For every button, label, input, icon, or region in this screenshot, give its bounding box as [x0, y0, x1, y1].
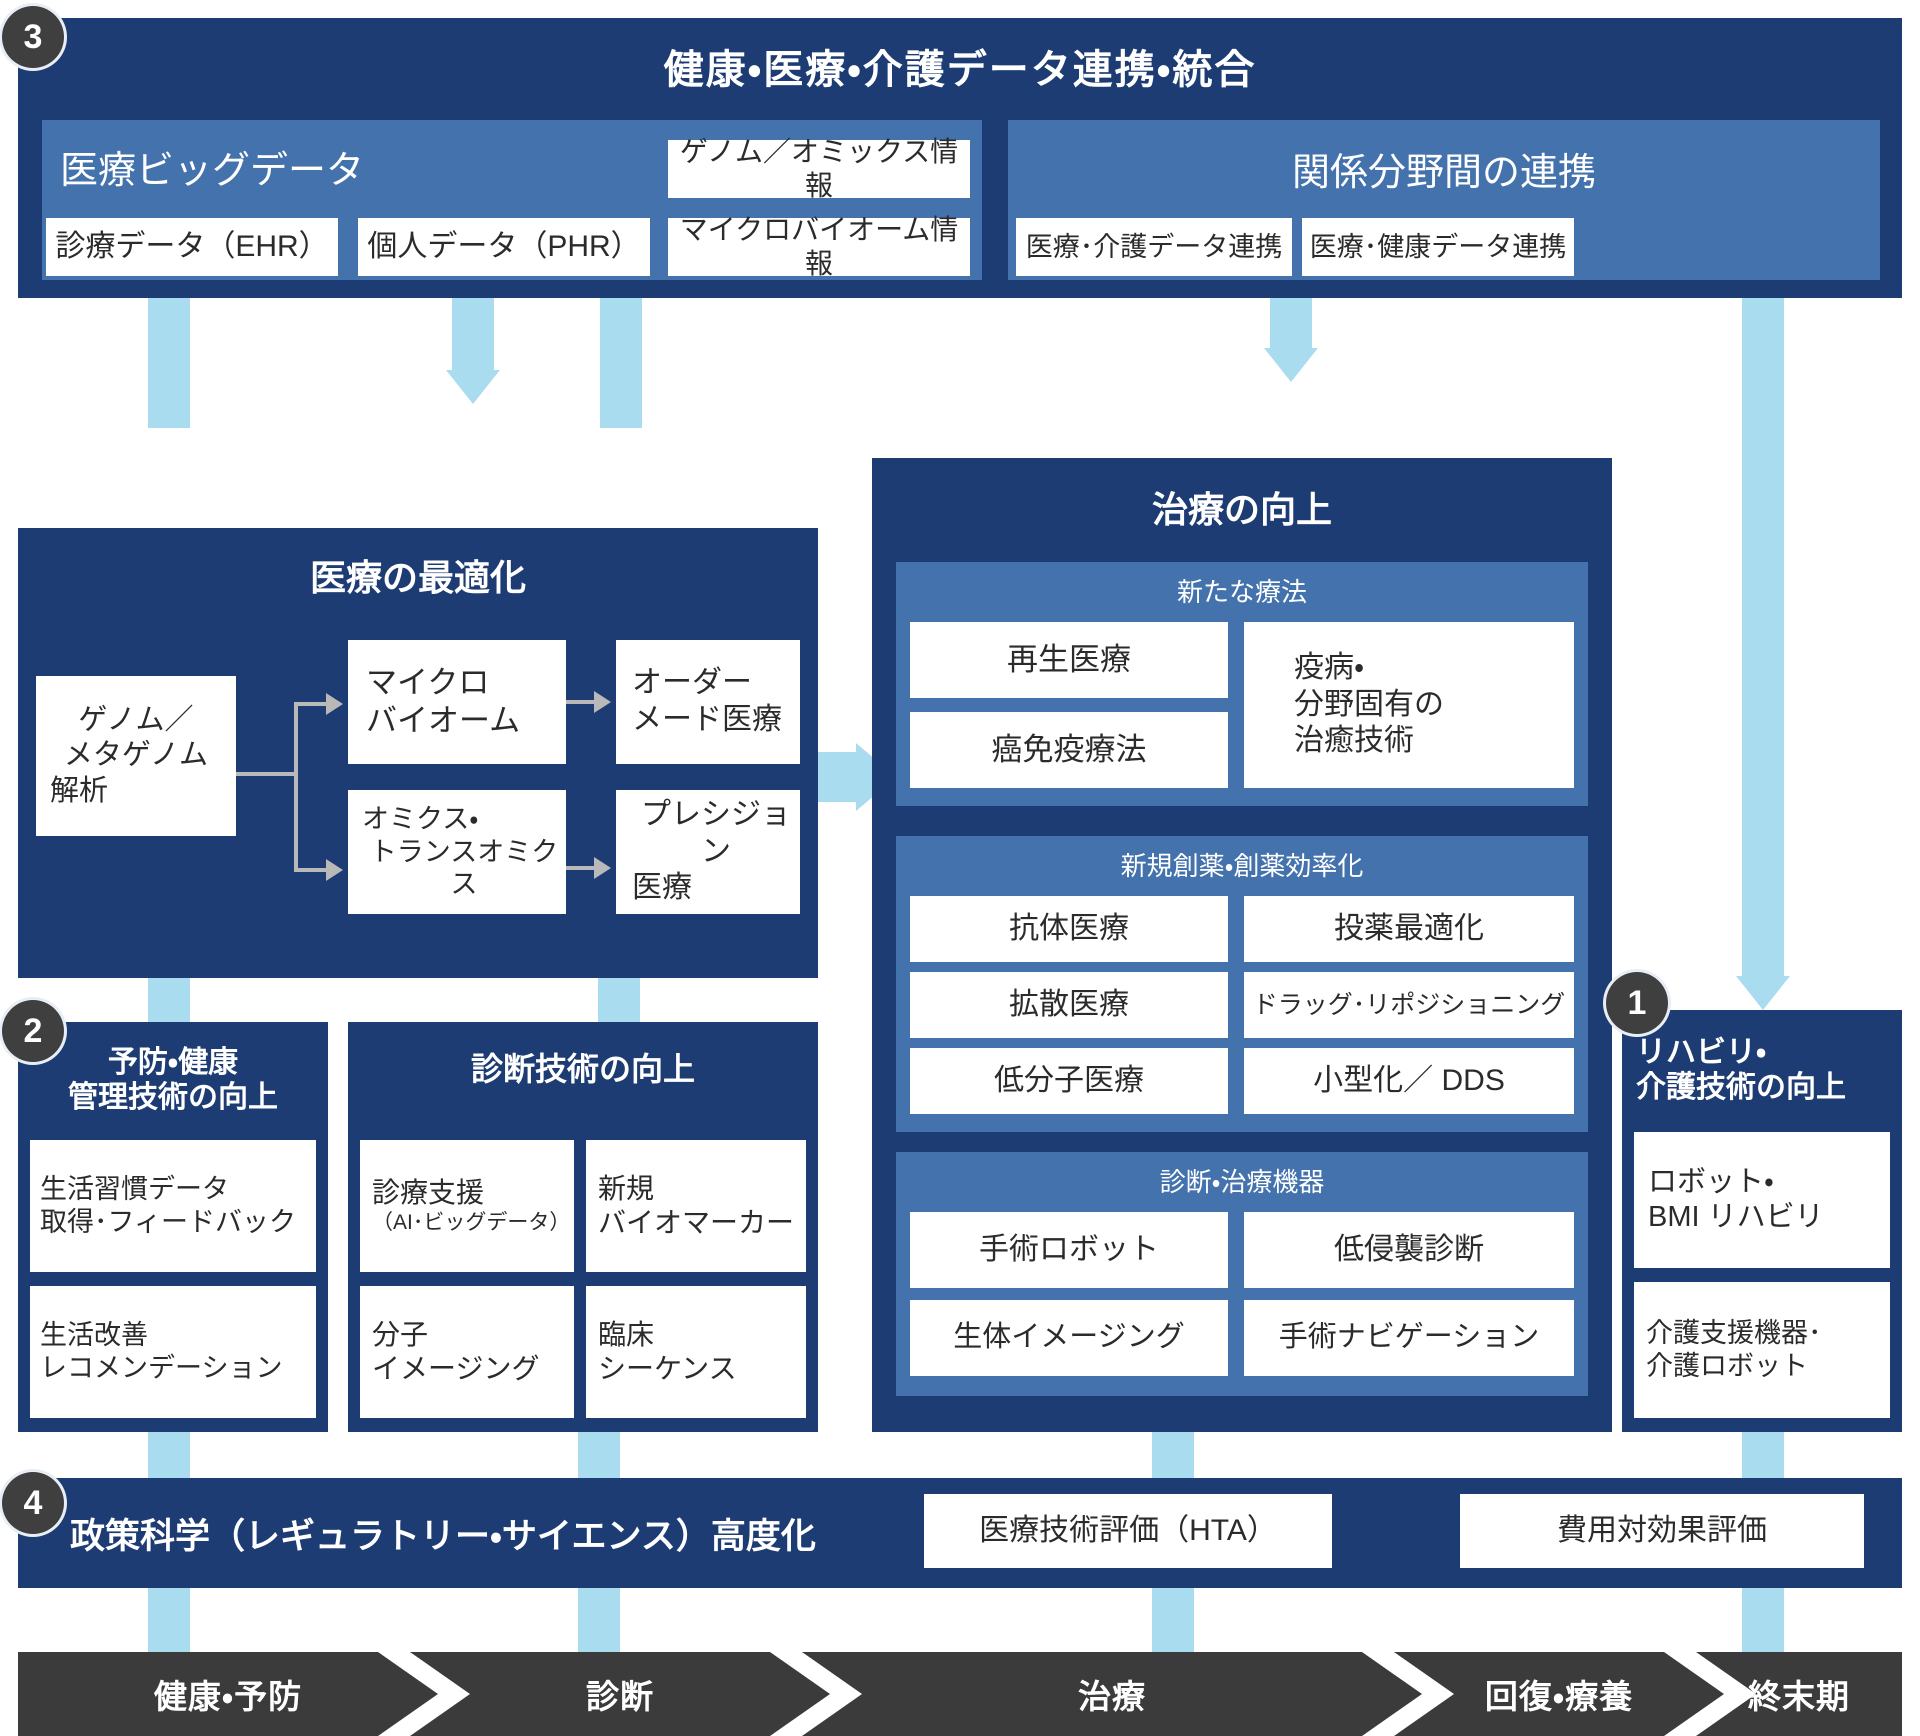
cooperation-title: 関係分野間の連携 [1008, 140, 1880, 196]
connector-upper-branch [294, 702, 328, 706]
bigdata-title: 医療ビッグデータ [60, 140, 660, 192]
arrow-policy-to-stage-prevention-shaft [148, 1588, 190, 1654]
optimization-omics-line2: トランスオミクス [362, 836, 566, 902]
optimization-source-card[interactable]: ゲノム／ メタゲノム 解析 [36, 676, 236, 836]
prevention-title: 予防・健康 管理技術の向上 [18, 1034, 328, 1126]
arrow-optimization-to-treatment-shaft [818, 752, 856, 802]
optimization-card-omics[interactable]: オミクス・ トランスオミクス [348, 790, 566, 914]
bigdata-card-microbiome[interactable]: マイクロバイオーム情報 [668, 218, 970, 276]
pipeline-stage-treatment[interactable]: 治療 [802, 1652, 1422, 1736]
prevention-card-lifestyle-data[interactable]: 生活習慣データ 取得･フィードバック [30, 1140, 316, 1272]
treatment-group-devices-label: 診断・治療機器 [896, 1162, 1588, 1202]
treatment-card-dosing-optimization[interactable]: 投薬最適化 [1244, 896, 1574, 962]
treatment-card-disease-line2: 分野固有の [1294, 687, 1444, 724]
rehab-title-line2: 介護技術の向上 [1636, 1070, 1846, 1105]
treatment-card-antibody[interactable]: 抗体医療 [910, 896, 1228, 962]
diagnosis-card-clinical-support[interactable]: 診療支援 （AI･ビッグデータ） [360, 1140, 574, 1272]
optimization-microbiome-line1: マイクロ [366, 664, 489, 702]
bigdata-card-phr[interactable]: 個人データ（PHR） [358, 218, 650, 276]
policy-card-cost-effectiveness[interactable]: 費用対効果評価 [1460, 1494, 1864, 1568]
treatment-group-drug-discovery-label: 新規創薬・創薬効率化 [896, 846, 1588, 886]
connector-omics-to-precision [566, 866, 596, 870]
treatment-card-drug-repositioning[interactable]: ドラッグ･リポジショニング [1244, 972, 1574, 1038]
bigdata-card-ehr[interactable]: 診療データ（EHR） [46, 218, 338, 276]
diagnosis-card-3-line2: シーケンス [598, 1352, 737, 1386]
connector-trunk-vertical [294, 702, 298, 872]
pipeline-stage-health-prevention[interactable]: 健康・予防 [18, 1652, 438, 1736]
badge-1: 1 [1606, 972, 1668, 1034]
section3-title: 健康・医療・介護データ連携・統合 [18, 40, 1902, 102]
treatment-card-surgical-navigation[interactable]: 手術ナビゲーション [1244, 1300, 1574, 1376]
treatment-card-diffusion[interactable]: 拡散医療 [910, 972, 1228, 1038]
rehab-card-1-line2: 介護ロボット [1646, 1350, 1808, 1383]
treatment-card-small-molecule[interactable]: 低分子医療 [910, 1048, 1228, 1114]
treatment-title: 治療の向上 [872, 482, 1612, 538]
treatment-group-new-therapy-label: 新たな療法 [896, 572, 1588, 612]
bigdata-card-genome-omics[interactable]: ゲノム／オミックス情報 [668, 140, 970, 198]
connector-trunk-horizontal [236, 772, 298, 776]
arrow-cooperation-to-rehab-shaft [1742, 298, 1784, 978]
pipeline-stage-diagnosis[interactable]: 診断 [410, 1652, 830, 1736]
cooperation-card-health[interactable]: 医療･健康データ連携 [1302, 218, 1574, 276]
arrow-policy-to-stage-terminal-shaft [1742, 1588, 1784, 1654]
diagnosis-card-0-line2: （AI･ビッグデータ） [372, 1210, 570, 1236]
optimization-precision-line1: プレシジョン [632, 797, 800, 870]
rehab-title-line1: リハビリ・ [1636, 1035, 1766, 1070]
connector-microbiome-to-ordermade [566, 700, 596, 704]
optimization-source-line3: 解析 [50, 774, 108, 809]
prevention-title-line1: 予防・健康 [108, 1045, 238, 1080]
optimization-title: 医療の最適化 [18, 552, 818, 604]
optimization-source-line1: ゲノム／ [78, 703, 193, 738]
treatment-card-surgical-robot[interactable]: 手術ロボット [910, 1212, 1228, 1288]
policy-title: 政策科学（レギュラトリー・サイエンス）高度化 [70, 1478, 920, 1588]
diagnosis-card-0-line1: 診療支援 [372, 1176, 484, 1210]
diagnosis-card-new-biomarker[interactable]: 新規 バイオマーカー [586, 1140, 806, 1272]
prevention-title-line2: 管理技術の向上 [68, 1080, 278, 1115]
arrow-microbiome-to-optimization [600, 298, 642, 428]
treatment-card-cancer-immunotherapy[interactable]: 癌免疫療法 [910, 712, 1228, 788]
optimization-source-line2: メタゲノム [64, 738, 208, 773]
treatment-card-bio-imaging[interactable]: 生体イメージング [910, 1300, 1228, 1376]
optimization-card-precision[interactable]: プレシジョン 医療 [616, 790, 800, 914]
connector-lower-branch [294, 868, 328, 872]
optimization-ordermade-line1: オーダー [632, 665, 752, 702]
prevention-card-1-line1: 生活改善 [40, 1319, 148, 1352]
connector-microbiome-to-ordermade-head [594, 691, 611, 713]
diagnosis-card-1-line1: 新規 [598, 1172, 654, 1206]
diagram-canvas: 健康・医療・介護データ連携・統合 医療ビッグデータ 診療データ（EHR） 個人デ… [0, 0, 1920, 1736]
pipeline-stage-terminal[interactable]: 終末期 [1696, 1652, 1902, 1736]
badge-3: 3 [2, 6, 64, 68]
diagnosis-card-3-line1: 臨床 [598, 1318, 654, 1352]
rehab-card-1-line1: 介護支援機器･ [1646, 1317, 1822, 1350]
arrow-optimization-to-prevention [148, 978, 190, 1022]
diagnosis-card-2-line2: イメージング [372, 1352, 539, 1386]
treatment-card-disease-line3: 治癒技術 [1294, 723, 1414, 760]
diagnosis-card-1-line2: バイオマーカー [598, 1206, 794, 1240]
rehab-title: リハビリ・ 介護技術の向上 [1622, 1022, 1902, 1118]
arrow-policy-to-stage-treatment-shaft [1152, 1588, 1194, 1654]
optimization-ordermade-line2: メード医療 [632, 702, 782, 739]
arrow-optimization-to-diagnosis [598, 978, 640, 1022]
diagnosis-card-clinical-sequence[interactable]: 臨床 シーケンス [586, 1286, 806, 1418]
arrow-phr-shaft [452, 298, 494, 370]
cooperation-card-care[interactable]: 医療･介護データ連携 [1016, 218, 1292, 276]
connector-omics-to-precision-head [594, 857, 611, 879]
rehab-card-care-support-robot[interactable]: 介護支援機器･ 介護ロボット [1634, 1282, 1890, 1418]
rehab-card-robot-bmi[interactable]: ロボット・ BMI リハビリ [1634, 1132, 1890, 1268]
optimization-microbiome-line2: バイオーム [366, 702, 520, 740]
prevention-card-1-line2: レコメンデーション [40, 1352, 282, 1385]
diagnosis-title: 診断技術の向上 [348, 1040, 818, 1100]
policy-card-hta[interactable]: 医療技術評価（HTA） [924, 1494, 1332, 1568]
arrow-cooperation-shaft [1270, 298, 1312, 350]
arrow-policy-to-stage-diagnosis-shaft [578, 1588, 620, 1654]
arrow-cooperation-to-rehab-head [1736, 976, 1790, 1010]
prevention-card-0-line2: 取得･フィードバック [40, 1206, 296, 1239]
treatment-card-minimally-invasive[interactable]: 低侵襲診断 [1244, 1212, 1574, 1288]
diagnosis-card-molecular-imaging[interactable]: 分子 イメージング [360, 1286, 574, 1418]
connector-upper-arrowhead [326, 693, 343, 715]
treatment-card-miniaturization-dds[interactable]: 小型化／ DDS [1244, 1048, 1574, 1114]
diagnosis-card-2-line1: 分子 [372, 1318, 428, 1352]
treatment-card-regenerative[interactable]: 再生医療 [910, 622, 1228, 698]
optimization-omics-line1: オミクス・ [362, 803, 478, 836]
optimization-card-microbiome[interactable]: マイクロ バイオーム [348, 640, 566, 764]
pipeline-stage-recovery[interactable]: 回復・療養 [1394, 1652, 1724, 1736]
connector-lower-arrowhead [326, 859, 343, 881]
treatment-card-disease-specific-cure[interactable]: 疫病・ 分野固有の 治癒技術 [1244, 622, 1574, 788]
treatment-card-disease-line1: 疫病・ [1294, 650, 1364, 687]
arrow-cooperation-head [1264, 348, 1318, 382]
badge-4: 4 [2, 1472, 64, 1534]
badge-2: 2 [2, 1000, 64, 1062]
rehab-card-0-line1: ロボット・ [1648, 1165, 1774, 1200]
prevention-card-0-line1: 生活習慣データ [40, 1173, 229, 1206]
prevention-card-lifestyle-recommendation[interactable]: 生活改善 レコメンデーション [30, 1286, 316, 1418]
rehab-card-0-line2: BMI リハビリ [1648, 1200, 1824, 1235]
arrow-ehr-to-optimization [148, 298, 190, 428]
optimization-precision-line2: 医療 [632, 870, 692, 907]
optimization-card-ordermade[interactable]: オーダー メード医療 [616, 640, 800, 764]
arrow-phr-head [446, 370, 500, 404]
